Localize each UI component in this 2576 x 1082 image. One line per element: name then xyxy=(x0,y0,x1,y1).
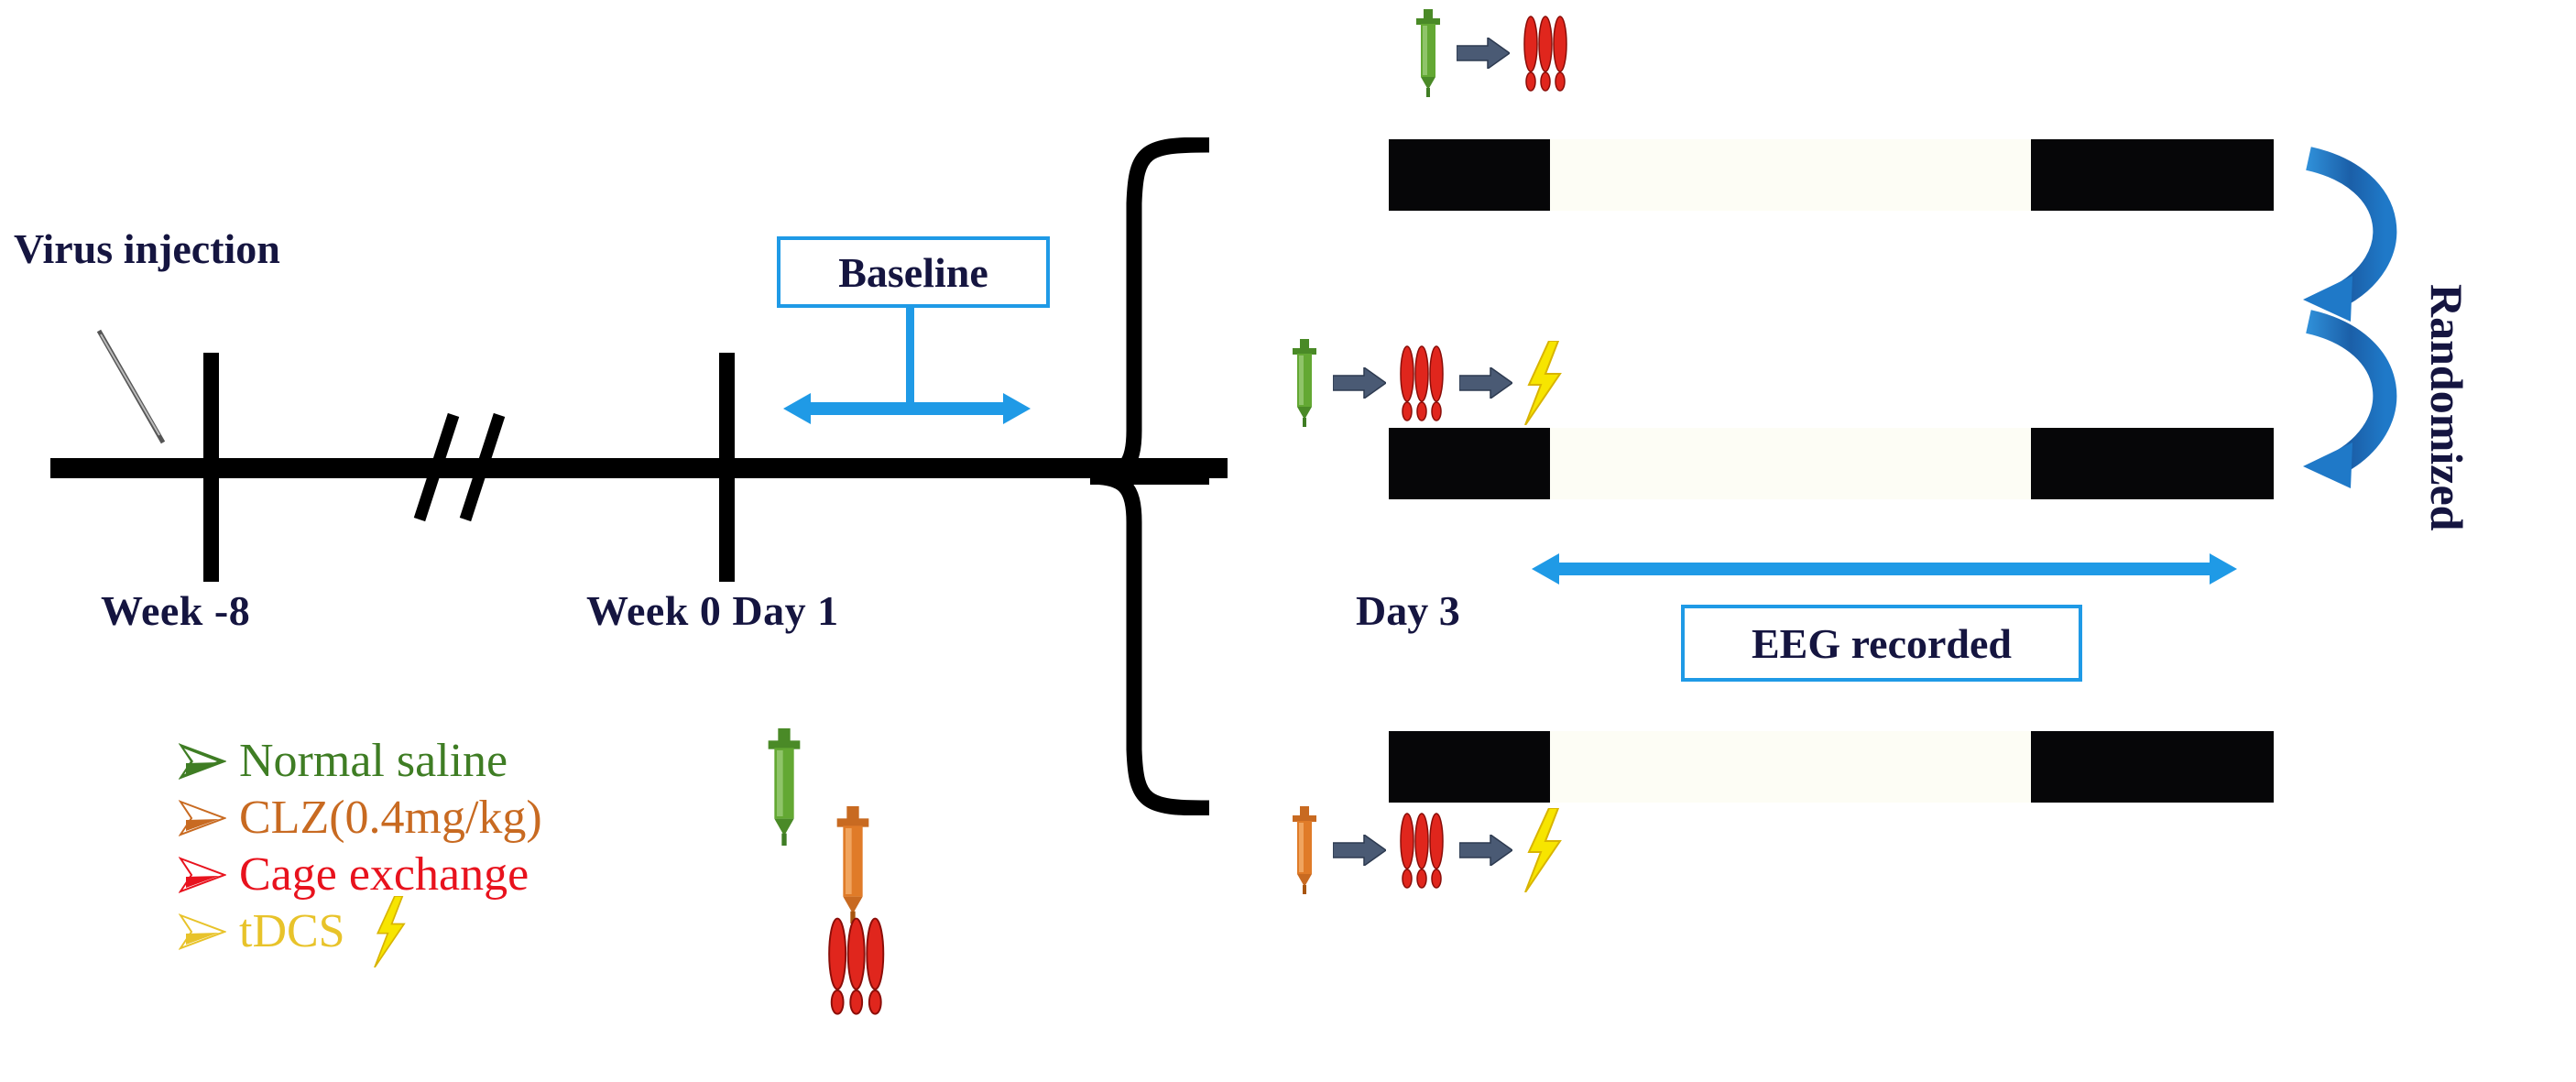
eeg-recorded-box: EEG recorded xyxy=(1681,605,2082,682)
eeg-recorded-label: EEG recorded xyxy=(1752,619,2012,668)
arrow-icon xyxy=(1333,367,1386,399)
syringe-green-icon xyxy=(1411,9,1446,97)
timeline-label-week-8: Week -8 xyxy=(101,586,250,635)
syringe-green-icon xyxy=(760,728,808,846)
protocol-icons-row-3 xyxy=(1287,806,1562,894)
arrow-icon xyxy=(1333,835,1386,866)
bar-segment-dark xyxy=(2031,139,2274,211)
syringe-orange-icon xyxy=(1287,806,1322,894)
virus-injection-label: Virus injection xyxy=(14,224,280,273)
legend-item-cage-exchange: Cage exchange xyxy=(179,847,930,903)
timeline-label-week-0: Week 0 Day 1 xyxy=(586,586,839,635)
bar-segment-light xyxy=(1550,428,2031,499)
bullet-arrow-icon xyxy=(179,913,226,950)
arrow-icon xyxy=(1457,38,1510,69)
arrow-icon xyxy=(1459,367,1512,399)
legend-item-normal-saline: Normal saline xyxy=(179,733,930,790)
legend-label: CLZ(0.4mg/kg) xyxy=(239,794,542,842)
cage-icon xyxy=(824,916,890,1015)
bar-segment-dark xyxy=(1389,428,1550,499)
bar-segment-dark xyxy=(2031,428,2274,499)
legend-label: Cage exchange xyxy=(239,851,529,899)
cage-icon xyxy=(1397,344,1448,421)
eeg-duration-double-arrow-icon xyxy=(1532,550,2237,588)
timeline-axis xyxy=(50,458,1228,478)
bullet-arrow-icon xyxy=(179,800,226,836)
bullet-arrow-icon xyxy=(179,857,226,893)
baseline-label: Baseline xyxy=(838,248,988,297)
legend-label: Normal saline xyxy=(239,738,508,785)
lightning-bolt-icon xyxy=(1523,808,1562,892)
experiment-bar-row-3 xyxy=(1389,731,2274,803)
grouping-brace-icon xyxy=(1090,137,1209,815)
bar-segment-dark xyxy=(1389,731,1550,803)
bullet-arrow-icon xyxy=(179,743,226,780)
baseline-double-arrow-icon xyxy=(783,389,1031,428)
legend-list: Normal saline CLZ(0.4mg/kg) Cage exchang… xyxy=(179,733,930,960)
randomized-label: Randomized xyxy=(2418,284,2473,650)
timeline-tick-week-0 xyxy=(719,353,735,582)
syringe-green-icon xyxy=(1287,339,1322,427)
lightning-bolt-icon xyxy=(366,896,413,967)
day-3-label: Day 3 xyxy=(1356,586,1460,635)
needle-icon xyxy=(92,325,174,449)
bar-segment-light xyxy=(1550,139,2031,211)
experiment-bar-row-2 xyxy=(1389,428,2274,499)
bar-segment-dark xyxy=(1389,139,1550,211)
legend-label: tDCS xyxy=(239,908,345,956)
experiment-bar-row-1 xyxy=(1389,139,2274,211)
arrow-icon xyxy=(1459,835,1512,866)
timeline-tick-week-8 xyxy=(203,353,219,582)
cage-icon xyxy=(1397,812,1448,889)
syringe-orange-icon xyxy=(829,806,877,924)
lightning-bolt-icon xyxy=(1523,341,1562,425)
legend-item-clz: CLZ(0.4mg/kg) xyxy=(179,790,930,847)
bar-segment-dark xyxy=(2031,731,2274,803)
protocol-icons-row-2 xyxy=(1287,339,1562,427)
bar-segment-light xyxy=(1550,731,2031,803)
protocol-icons-row-1 xyxy=(1411,9,1572,97)
baseline-callout-box: Baseline xyxy=(777,236,1050,308)
cage-icon xyxy=(1521,15,1572,92)
legend-item-tdcs: tDCS xyxy=(179,903,930,960)
